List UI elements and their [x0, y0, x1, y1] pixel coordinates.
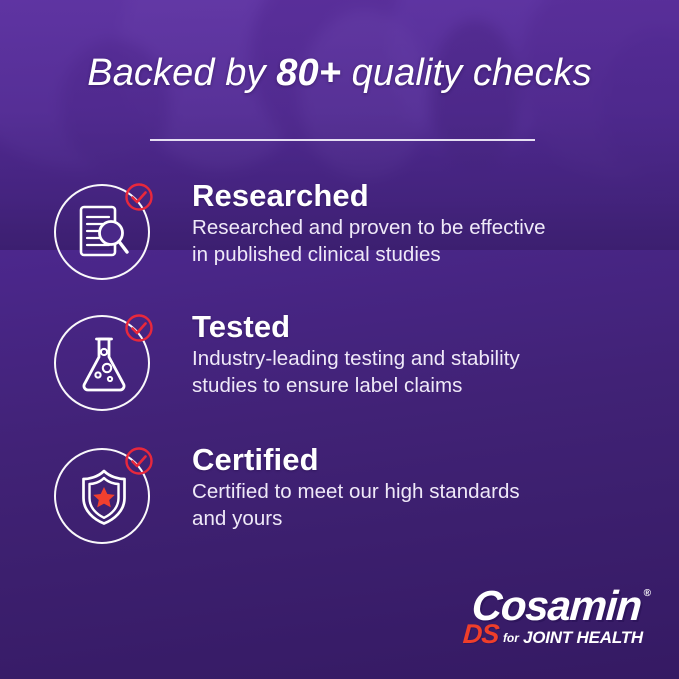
document-magnifier-icon — [76, 204, 132, 262]
brand-tagline: JOINT HEALTH — [523, 627, 643, 648]
headline-suffix: quality checks — [341, 52, 592, 94]
feature-row-certified: Certified Certified to meet our high sta… — [0, 446, 679, 566]
feature-text-block: Tested Industry-leading testing and stab… — [192, 311, 652, 399]
flask-icon — [76, 335, 132, 393]
check-badge-icon — [124, 182, 154, 212]
feature-icon-wrap — [52, 446, 156, 550]
feature-description-line: Industry-leading testing and stability — [192, 346, 652, 373]
check-badge-icon — [124, 313, 154, 343]
feature-description-line: in published clinical studies — [192, 242, 652, 269]
divider-rule — [150, 139, 535, 141]
feature-text-block: Researched Researched and proven to be e… — [192, 180, 652, 268]
page-title: Backed by 80+ quality checks — [0, 52, 679, 95]
feature-row-researched: Researched Researched and proven to be e… — [0, 182, 679, 302]
feature-description-line: and yours — [192, 506, 652, 533]
shield-star-icon — [76, 468, 132, 526]
feature-description-line: studies to ensure label claims — [192, 373, 652, 400]
headline-emphasis: 80+ — [276, 52, 341, 94]
feature-title: Certified — [192, 444, 652, 477]
feature-title: Researched — [192, 180, 652, 213]
headline-prefix: Backed by — [87, 52, 276, 94]
feature-title: Tested — [192, 311, 652, 344]
brand-ds-label: DS — [463, 622, 500, 648]
feature-description: Industry-leading testing and stability s… — [192, 346, 652, 399]
feature-icon-wrap — [52, 182, 156, 286]
feature-icon-wrap — [52, 313, 156, 417]
feature-row-tested: Tested Industry-leading testing and stab… — [0, 313, 679, 433]
brand-logo: Cosamin ® DS for JOINT HEALTH — [441, 584, 651, 646]
check-badge-icon — [124, 446, 154, 476]
brand-subline: DS for JOINT HEALTH — [463, 622, 643, 648]
registered-trademark-symbol: ® — [644, 588, 651, 599]
feature-description-line: Certified to meet our high standards — [192, 479, 652, 506]
product-infographic-panel: Backed by 80+ quality checks — [0, 0, 679, 679]
feature-description: Researched and proven to be effective in… — [192, 215, 652, 268]
feature-description-line: Researched and proven to be effective — [192, 215, 652, 242]
brand-for-label: for — [503, 629, 519, 648]
feature-text-block: Certified Certified to meet our high sta… — [192, 444, 652, 532]
feature-description: Certified to meet our high standards and… — [192, 479, 652, 532]
